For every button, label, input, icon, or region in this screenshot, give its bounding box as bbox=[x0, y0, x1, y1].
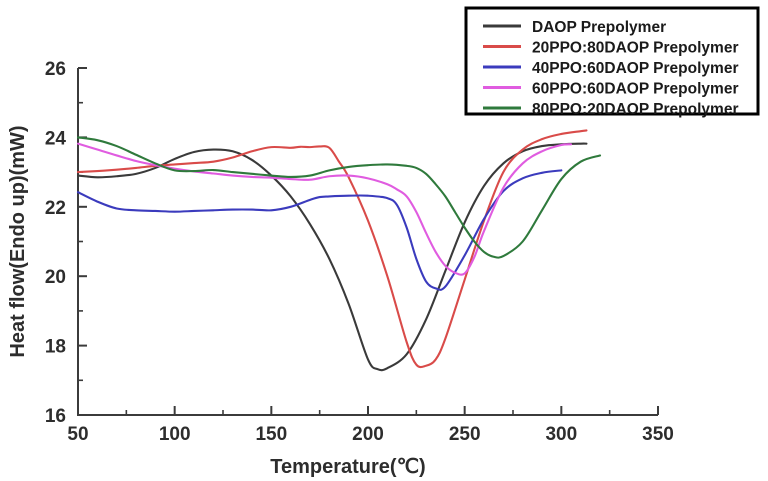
legend-label-3: 60PPO:60DAOP Prepolymer bbox=[532, 81, 738, 98]
legend: DAOP Prepolymer20PPO:80DAOP Prepolymer40… bbox=[466, 8, 758, 118]
legend-label-1: 20PPO:80DAOP Prepolymer bbox=[532, 40, 738, 57]
y-tick-label: 22 bbox=[45, 198, 66, 219]
chart-figure: 50100150200250300350161820222426Temperat… bbox=[0, 0, 768, 481]
legend-label-0: DAOP Prepolymer bbox=[532, 19, 666, 36]
x-tick-label: 50 bbox=[67, 424, 88, 445]
x-tick-label: 100 bbox=[159, 424, 191, 445]
y-tick-label: 24 bbox=[45, 128, 67, 149]
legend-label-2: 40PPO:60DAOP Prepolymer bbox=[532, 60, 738, 77]
x-tick-label: 150 bbox=[255, 424, 287, 445]
x-axis-title: Temperature(℃) bbox=[270, 456, 425, 478]
y-tick-label: 26 bbox=[45, 59, 66, 80]
series-line-2 bbox=[78, 170, 561, 290]
series-group bbox=[78, 130, 600, 370]
axis-lines bbox=[78, 68, 658, 415]
y-tick-label: 16 bbox=[45, 406, 66, 427]
axes-group bbox=[78, 68, 658, 415]
y-tick-label: 20 bbox=[45, 267, 66, 288]
legend-label-4: 80PPO:20DAOP Prepolymer bbox=[532, 101, 738, 118]
x-tick-label: 300 bbox=[545, 424, 577, 445]
x-tick-label: 200 bbox=[352, 424, 384, 445]
dsc-thermogram-chart: 50100150200250300350161820222426Temperat… bbox=[0, 0, 768, 481]
y-axis-title: Heat flow(Endo up)(mW) bbox=[7, 125, 29, 357]
x-tick-label: 250 bbox=[449, 424, 481, 445]
x-tick-label: 350 bbox=[642, 424, 674, 445]
series-line-3 bbox=[78, 144, 571, 275]
y-tick-label: 18 bbox=[45, 337, 66, 358]
series-line-4 bbox=[78, 137, 600, 257]
